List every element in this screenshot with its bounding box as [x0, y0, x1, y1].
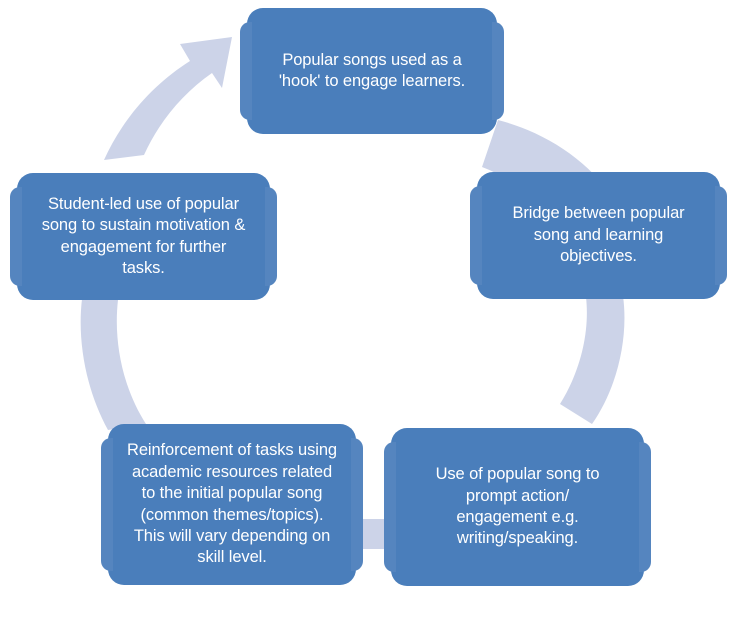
arrow-student-to-hook: [104, 37, 232, 160]
cycle-node-hook[interactable]: Popular songs used as a 'hook' to engage…: [247, 8, 497, 134]
arc-bridge-to-prompt: [560, 296, 624, 424]
cycle-node-prompt[interactable]: Use of popular song to prompt action/ en…: [391, 428, 644, 586]
cycle-node-hook-label: Popular songs used as a 'hook' to engage…: [279, 50, 465, 93]
cycle-node-bridge-label: Bridge between popular song and learning…: [512, 203, 684, 267]
cycle-node-reinforce[interactable]: Reinforcement of tasks using academic re…: [108, 424, 356, 585]
cycle-diagram: Popular songs used as a 'hook' to engage…: [0, 0, 754, 637]
cycle-node-student-label: Student-led use of popular song to susta…: [42, 194, 246, 280]
cycle-node-bridge[interactable]: Bridge between popular song and learning…: [477, 172, 720, 299]
cycle-node-reinforce-label: Reinforcement of tasks using academic re…: [127, 440, 337, 569]
arc-reinforce-to-student: [81, 299, 146, 430]
cycle-node-student[interactable]: Student-led use of popular song to susta…: [17, 173, 270, 300]
cycle-node-prompt-label: Use of popular song to prompt action/ en…: [436, 464, 600, 550]
